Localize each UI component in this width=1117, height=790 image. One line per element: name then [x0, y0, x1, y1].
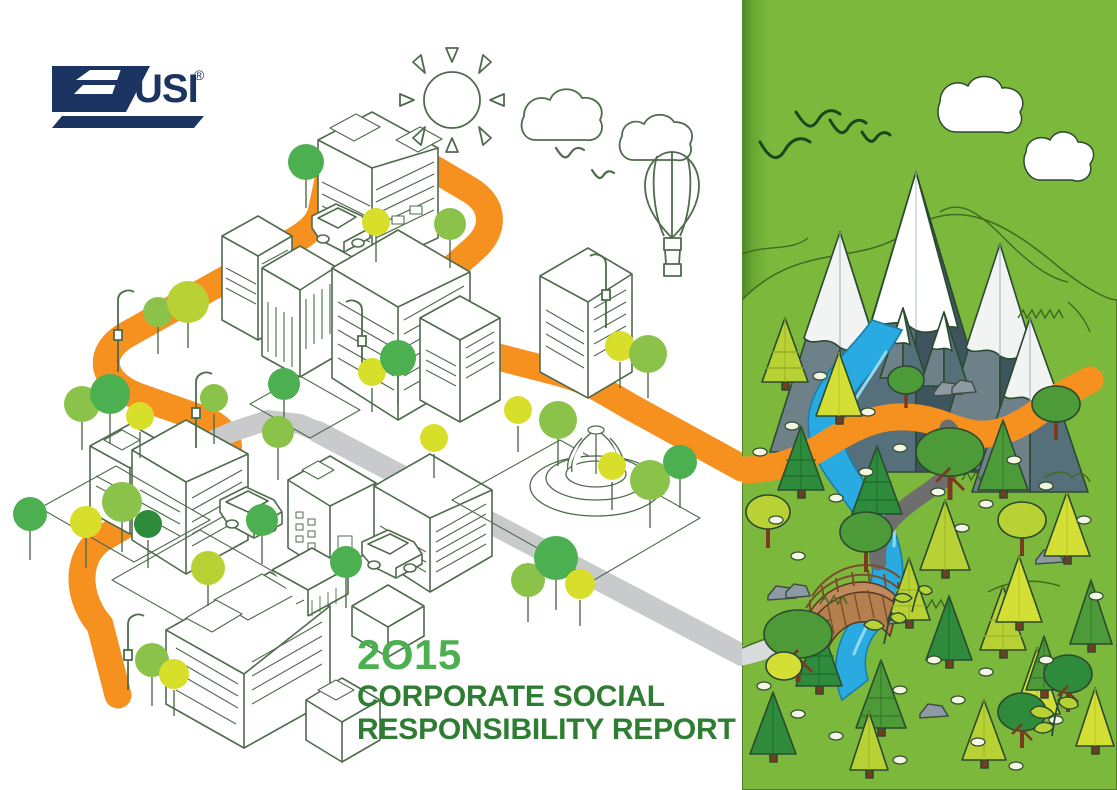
report-cover: USI ® 2O15 CORPORATE SOCIAL RESPONSIBILI…: [0, 0, 1117, 790]
usi-wordmark: USI: [134, 67, 198, 111]
report-title-line-1: CORPORATE SOCIAL: [357, 680, 736, 713]
cover-title-block: 2O15 CORPORATE SOCIAL RESPONSIBILITY REP…: [357, 634, 736, 746]
usi-logo: USI ®: [52, 58, 207, 135]
registered-trademark-icon: ®: [194, 67, 205, 83]
building-tower-east: [540, 248, 632, 398]
nature-scene: [742, 0, 1117, 790]
report-year: 2O15: [357, 634, 736, 676]
building-block-east: [420, 296, 500, 422]
usi-logo-mark: USI ®: [52, 58, 207, 130]
report-title-line-2: RESPONSIBILITY REPORT: [357, 713, 736, 746]
building-ribbed-central: [262, 246, 336, 377]
